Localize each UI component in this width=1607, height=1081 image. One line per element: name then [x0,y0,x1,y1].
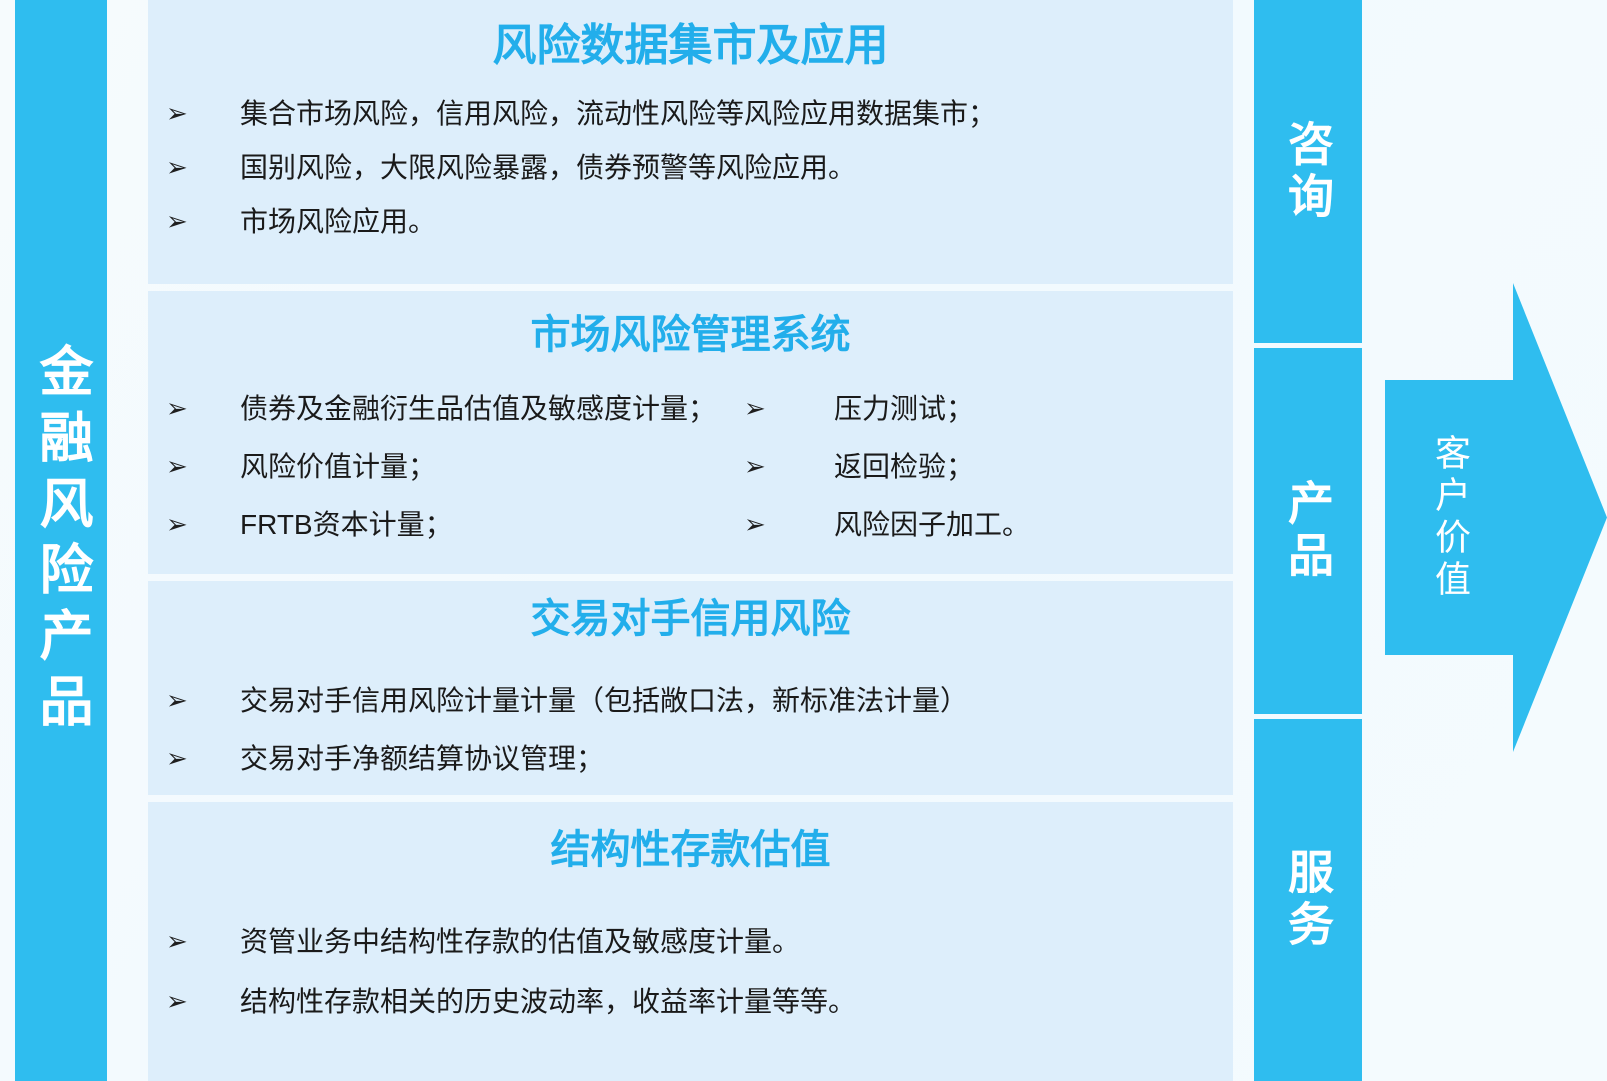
section-title: 风险数据集市及应用 [148,0,1233,68]
section-risk-data-mart: 风险数据集市及应用 ➢ 集合市场风险，信用风险，流动性风险等风险应用数据集市； … [148,0,1233,284]
section-title: 市场风险管理系统 [148,291,1233,355]
section-counterparty-credit-risk: 交易对手信用风险 ➢ 交易对手信用风险计量计量（包括敞口法，新标准法计量） ➢ … [148,581,1233,795]
service-stage-column: 咨询 产品 服务 [1254,0,1362,1081]
slide-canvas: 金融风险产品 风险数据集市及应用 ➢ 集合市场风险，信用风险，流动性风险等风险应… [0,0,1607,1081]
stage-block-label: 咨询 [1285,120,1331,224]
list-item-label: 压力测试； [834,395,1233,423]
arrow-bullet-icon: ➢ [148,453,240,479]
arrow-bullet-icon: ➢ [148,208,240,234]
arrow-bullet-icon: ➢ [716,453,834,479]
arrow-bullet-icon: ➢ [716,395,834,421]
list-item: ➢ 市场风险应用。 [148,208,1233,236]
arrow-bullet-icon: ➢ [148,928,240,954]
list-item-label: 市场风险应用。 [240,208,1233,236]
list-item: ➢ 债券及金融衍生品估值及敏感度计量； [148,395,716,423]
arrow-bullet-icon: ➢ [148,100,240,126]
list-item: ➢ 交易对手净额结算协议管理； [148,745,1233,773]
list-item: ➢ 风险价值计量； [148,453,716,481]
content-sections: 风险数据集市及应用 ➢ 集合市场风险，信用风险，流动性风险等风险应用数据集市； … [148,0,1233,1081]
customer-value-arrow: 客户价值 [1385,275,1607,760]
list-item: ➢ FRTB资本计量； [148,511,716,539]
list-item-label: 集合市场风险，信用风险，流动性风险等风险应用数据集市； [240,100,1233,128]
section-market-risk-system: 市场风险管理系统 ➢ 债券及金融衍生品估值及敏感度计量； ➢ 风险价值计量； ➢… [148,291,1233,574]
stage-block-service: 服务 [1254,719,1362,1081]
arrow-bullet-icon: ➢ [148,988,240,1014]
list-item-label: FRTB资本计量； [240,511,716,539]
list-item-label: 风险价值计量； [240,453,716,481]
bullet-column-right: ➢ 压力测试； ➢ 返回检验； ➢ 风险因子加工。 [716,365,1233,539]
list-item-label: 国别风险，大限风险暴露，债券预警等风险应用。 [240,154,1233,182]
list-item: ➢ 国别风险，大限风险暴露，债券预警等风险应用。 [148,154,1233,182]
arrow-bullet-icon: ➢ [148,745,240,771]
stage-block-label: 产品 [1285,479,1331,583]
arrow-bullet-icon: ➢ [716,511,834,537]
list-item-label: 返回检验； [834,453,1233,481]
list-item-label: 风险因子加工。 [834,511,1233,539]
left-vertical-bar: 金融风险产品 [15,0,107,1081]
list-item-label: 交易对手净额结算协议管理； [240,745,1233,773]
bullet-list: ➢ 集合市场风险，信用风险，流动性风险等风险应用数据集市； ➢ 国别风险，大限风… [148,68,1233,236]
stage-block-label: 服务 [1285,848,1331,952]
arrow-bullet-icon: ➢ [148,154,240,180]
list-item: ➢ 风险因子加工。 [716,511,1233,539]
list-item-label: 交易对手信用风险计量计量（包括敞口法，新标准法计量） [240,687,1233,715]
stage-block-consulting: 咨询 [1254,0,1362,343]
section-structured-deposit-valuation: 结构性存款估值 ➢ 资管业务中结构性存款的估值及敏感度计量。 ➢ 结构性存款相关… [148,802,1233,1081]
arrow-label: 客户价值 [1385,275,1515,760]
section-title: 结构性存款估值 [148,802,1233,870]
bullet-list: ➢ 交易对手信用风险计量计量（包括敞口法，新标准法计量） ➢ 交易对手净额结算协… [148,639,1233,773]
stage-block-product: 产品 [1254,348,1362,714]
list-item: ➢ 返回检验； [716,453,1233,481]
arrow-bullet-icon: ➢ [148,687,240,713]
section-title: 交易对手信用风险 [148,581,1233,639]
arrow-bullet-icon: ➢ [148,511,240,537]
list-item-label: 资管业务中结构性存款的估值及敏感度计量。 [240,928,1233,956]
left-bar-label: 金融风险产品 [34,343,88,739]
bullet-list: ➢ 资管业务中结构性存款的估值及敏感度计量。 ➢ 结构性存款相关的历史波动率，收… [148,870,1233,1016]
list-item: ➢ 集合市场风险，信用风险，流动性风险等风险应用数据集市； [148,100,1233,128]
list-item: ➢ 压力测试； [716,395,1233,423]
list-item: ➢ 交易对手信用风险计量计量（包括敞口法，新标准法计量） [148,687,1233,715]
list-item: ➢ 资管业务中结构性存款的估值及敏感度计量。 [148,928,1233,956]
arrow-bullet-icon: ➢ [148,395,240,421]
list-item-label: 债券及金融衍生品估值及敏感度计量； [240,395,716,423]
list-item: ➢ 结构性存款相关的历史波动率，收益率计量等等。 [148,988,1233,1016]
bullet-columns: ➢ 债券及金融衍生品估值及敏感度计量； ➢ 风险价值计量； ➢ FRTB资本计量… [148,355,1233,539]
list-item-label: 结构性存款相关的历史波动率，收益率计量等等。 [240,988,1233,1016]
bullet-column-left: ➢ 债券及金融衍生品估值及敏感度计量； ➢ 风险价值计量； ➢ FRTB资本计量… [148,365,716,539]
